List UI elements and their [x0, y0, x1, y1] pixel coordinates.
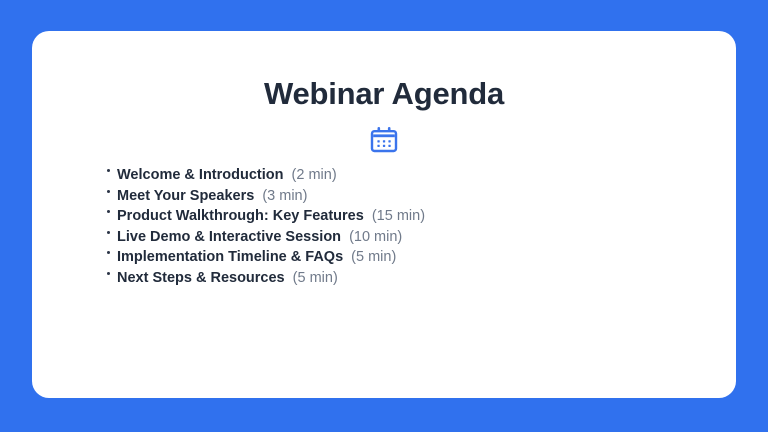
card-content: Webinar Agenda	[32, 31, 736, 398]
bullet-icon	[107, 210, 110, 213]
agenda-card: Webinar Agenda	[32, 31, 736, 398]
agenda-item-label: Implementation Timeline & FAQs	[117, 249, 343, 265]
agenda-list: Welcome & Introduction (2 min) Meet Your…	[106, 165, 425, 288]
list-item: Welcome & Introduction (2 min)	[106, 165, 425, 186]
agenda-item-label: Welcome & Introduction	[117, 167, 284, 183]
agenda-item-label: Next Steps & Resources	[117, 270, 285, 286]
bullet-icon	[107, 190, 110, 193]
list-item: Next Steps & Resources (5 min)	[106, 268, 425, 289]
agenda-item-label: Meet Your Speakers	[117, 188, 254, 204]
list-item: Product Walkthrough: Key Features (15 mi…	[106, 206, 425, 227]
agenda-item-duration: (2 min)	[292, 167, 337, 183]
slide-canvas: Webinar Agenda	[0, 0, 768, 432]
calendar-icon	[370, 125, 398, 153]
bullet-icon	[107, 169, 110, 172]
list-item: Meet Your Speakers (3 min)	[106, 186, 425, 207]
agenda-item-duration: (10 min)	[349, 229, 402, 245]
agenda-item-label: Live Demo & Interactive Session	[117, 229, 341, 245]
list-item: Live Demo & Interactive Session (10 min)	[106, 227, 425, 248]
list-item: Implementation Timeline & FAQs (5 min)	[106, 247, 425, 268]
bullet-icon	[107, 251, 110, 254]
agenda-item-duration: (5 min)	[351, 249, 396, 265]
page-title: Webinar Agenda	[32, 77, 736, 111]
agenda-item-duration: (3 min)	[262, 188, 307, 204]
agenda-item-duration: (15 min)	[372, 208, 425, 224]
bullet-icon	[107, 272, 110, 275]
agenda-item-duration: (5 min)	[293, 270, 338, 286]
bullet-icon	[107, 231, 110, 234]
agenda-item-label: Product Walkthrough: Key Features	[117, 208, 364, 224]
icon-row	[32, 119, 736, 159]
